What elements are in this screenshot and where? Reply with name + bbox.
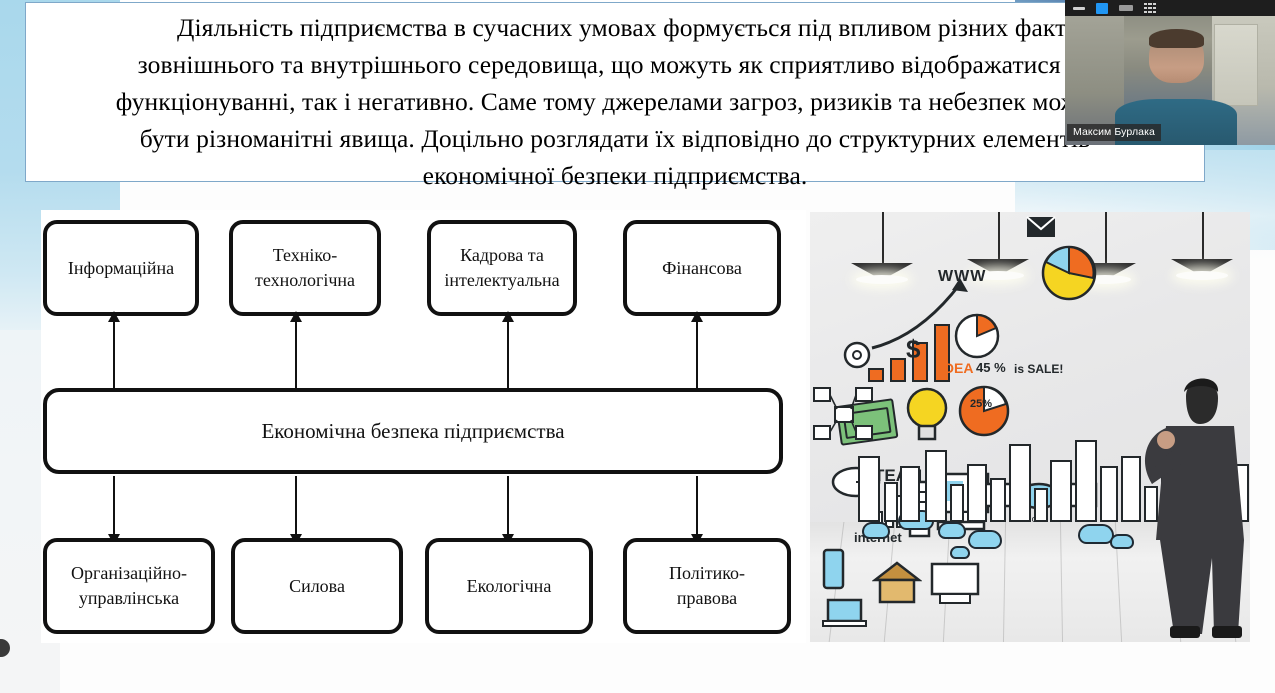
dollar-sign-icon: $ [906,334,920,365]
arrow-up-4 [696,320,698,388]
video-toolbar[interactable] [1065,0,1275,16]
diagram-box-bottom-4: Політико-правова [623,538,791,634]
cloud-icon [1078,524,1114,544]
building-icon [900,466,920,522]
arrow-down-4 [696,476,698,536]
window-icon[interactable] [1119,5,1133,11]
diagram-box-label: Політико-правова [669,561,745,611]
cloud-icon [938,522,966,539]
diagram-box-top-2: Техніко-технологічна [229,220,381,316]
active-share-icon[interactable] [1096,3,1108,14]
paragraph-line-5: економічної безпеки підприємства. [40,157,1190,194]
diagram-box-top-3: Кадрова таінтелектуальна [427,220,577,316]
pie-chart-outline-icon [952,312,1002,360]
ceiling-lamp-icon [1105,212,1107,264]
diagram-box-label: Фінансова [662,256,742,281]
participant-name-label: Максим Бурлака [1067,124,1161,141]
ceiling-lamp-icon [998,212,1000,260]
arrow-down-3 [507,476,509,536]
laptop-icon [822,598,868,630]
diagram-box-center: Економічна безпека підприємства [43,388,783,474]
slide-text-card: Діяльність підприємства в сучасних умова… [25,2,1205,182]
building-icon [1009,444,1031,522]
doodle-25-percent-label: 25% [970,398,992,410]
arrow-down-1 [113,476,115,536]
pie-chart-colored-icon [1038,244,1100,302]
paragraph-line-3: функціонуванні, так і негативно. Саме то… [40,83,1190,120]
arrow-down-2 [295,476,297,536]
participant-hair [1149,29,1204,48]
video-call-panel[interactable]: Максим Бурлака [1065,0,1275,145]
building-icon [967,464,987,522]
building-icon [1075,440,1097,522]
building-icon [858,456,880,522]
paragraph-line-4: бути різноманітні явища. Доцільно розгля… [40,120,1190,157]
building-icon [1034,488,1048,522]
paragraph-line-2: зовнішнього та внутрішнього середовища, … [40,46,1190,83]
building-icon [925,450,947,522]
doodle-sale-label: is SALE! [1014,362,1063,376]
doodle-idea-label: iDEA [940,360,973,376]
network-diagram-icon [810,382,896,452]
smartphone-icon [822,548,846,590]
gear-icon [840,338,874,372]
arrow-up-2 [295,320,297,388]
workstation-icon [928,560,984,608]
diagram-center-label: Економічна безпека підприємства [261,419,564,444]
diagram-box-label: Інформаційна [68,256,174,281]
diagram-box-label: Техніко-технологічна [255,243,355,293]
video-background-door [1214,24,1258,106]
diagram-box-label: Силова [289,574,345,599]
diagram-box-bottom-3: Екологічна [425,538,593,634]
building-icon [950,484,964,522]
building-icon [884,482,898,522]
lightbulb-icon [906,384,948,448]
whiteboard-illustration: WWW iDEA 45 % is SALE! 25% TEAM internet [810,212,1250,642]
cloud-icon [862,522,890,539]
paragraph-line-1: Діяльність підприємства в сучасних умова… [40,9,1190,46]
building-icon [1050,460,1072,522]
doodle-www-label: WWW [938,268,986,286]
pie-chart-orange-icon [956,384,1012,438]
ceiling-lamp-icon [882,212,884,264]
diagram-box-label: Організаційно-управлінська [71,561,187,611]
diagram-box-label: Кадрова таінтелектуальна [444,243,559,293]
video-feed[interactable]: Максим Бурлака [1065,16,1275,145]
minimize-icon[interactable] [1073,7,1085,10]
diagram-box-bottom-2: Силова [231,538,403,634]
arrow-up-1 [113,320,115,388]
diagram-box-bottom-1: Організаційно-управлінська [43,538,215,634]
diagram-box-label: Екологічна [467,574,552,599]
house-icon [872,560,922,606]
building-icon [1100,466,1118,522]
economic-security-diagram: Інформаційна Техніко-технологічна Кадров… [41,210,806,643]
doodle-percent-label: 45 % [976,360,1006,375]
grid-view-icon[interactable] [1144,3,1156,14]
diagram-box-top-1: Інформаційна [43,220,199,316]
ceiling-lamp-icon [1202,212,1204,260]
arrow-up-3 [507,320,509,388]
diagram-box-top-4: Фінансова [623,220,781,316]
cloud-icon [968,530,1002,549]
cloud-icon [950,546,970,559]
envelope-icon [1026,216,1056,238]
building-icon [990,478,1006,522]
